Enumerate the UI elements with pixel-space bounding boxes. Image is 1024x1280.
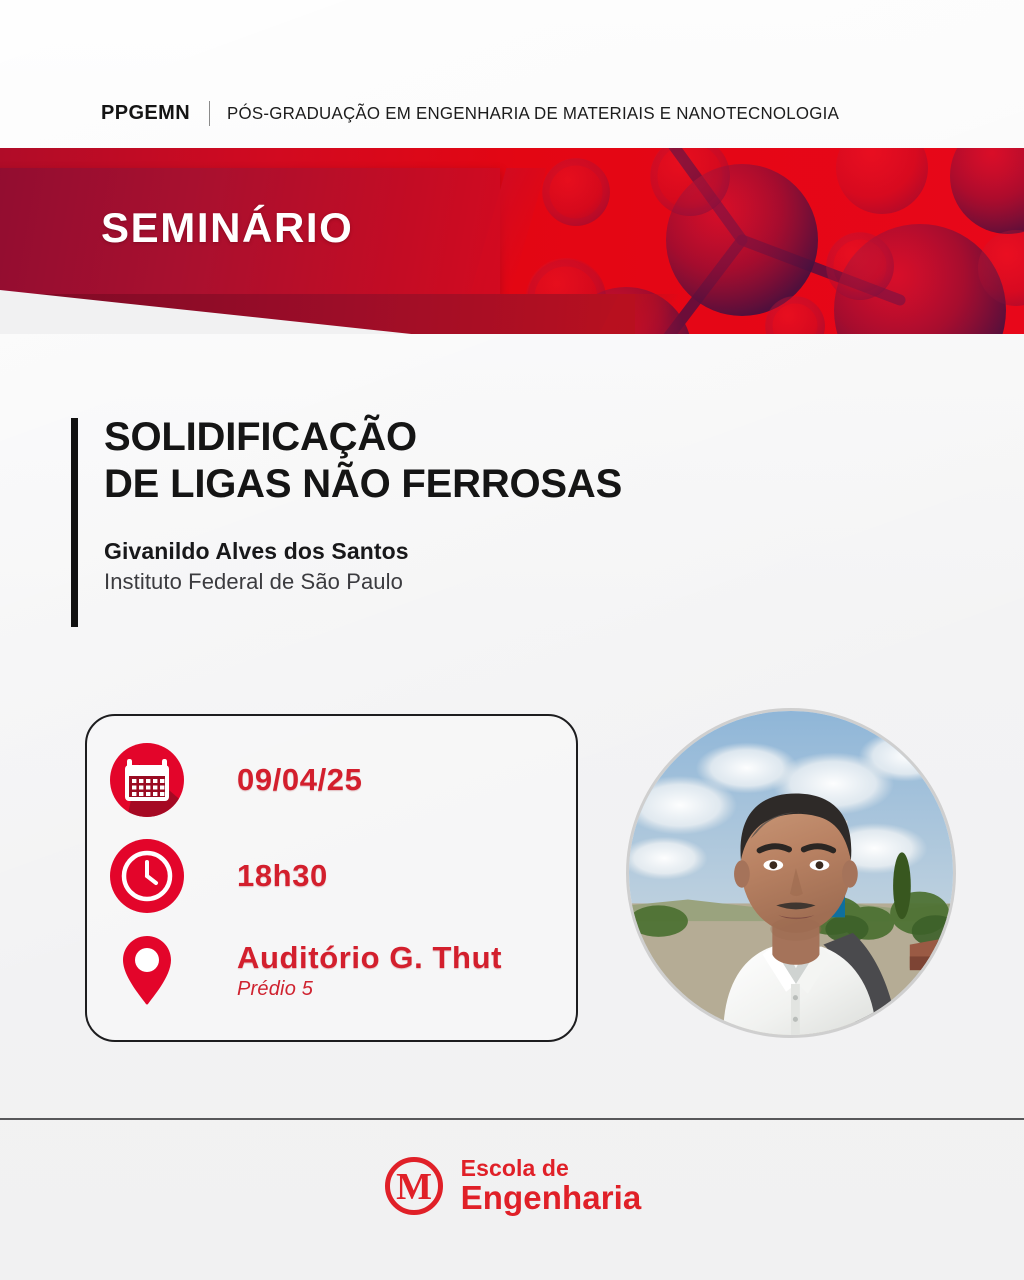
mackenzie-m-logo-icon: M <box>383 1155 445 1217</box>
footer-divider <box>0 1118 1024 1120</box>
event-location-row: Auditório G. Thut Prédio 5 <box>109 932 502 1008</box>
speaker-portrait-photo <box>626 708 956 1038</box>
event-location-building: Prédio 5 <box>237 978 502 1001</box>
footer-logo-line-2: Engenharia <box>461 1181 642 1215</box>
banner-label: SEMINÁRIO <box>101 204 353 252</box>
footer-logo-line-1: Escola de <box>461 1157 642 1180</box>
svg-text:M: M <box>396 1166 432 1208</box>
event-details-card: 09/04/25 18h30 <box>85 714 578 1042</box>
seminar-banner: SEMINÁRIO <box>0 148 1024 334</box>
talk-title-block: SOLIDIFICAÇÃO DE LIGAS NÃO FERROSAS Giva… <box>71 414 622 595</box>
seminar-poster: PPGEMN PÓS-GRADUAÇÃO EM ENGENHARIA DE MA… <box>0 0 1024 1280</box>
program-abbreviation: PPGEMN <box>101 102 190 125</box>
event-time-value: 18h30 <box>237 858 328 894</box>
program-full-name: PÓS-GRADUAÇÃO EM ENGENHARIA DE MATERIAIS… <box>227 103 839 124</box>
clock-icon <box>109 838 185 914</box>
event-date-value: 09/04/25 <box>237 762 362 798</box>
event-time-row: 18h30 <box>109 838 328 914</box>
page-title: SOLIDIFICAÇÃO DE LIGAS NÃO FERROSAS <box>104 414 622 508</box>
vertical-divider-icon <box>209 101 210 126</box>
event-location-value: Auditório G. Thut <box>237 940 502 976</box>
speaker-name: Givanildo Alves dos Santos <box>104 538 622 565</box>
footer-logo: M Escola de Engenharia <box>0 1155 1024 1217</box>
program-header: PPGEMN PÓS-GRADUAÇÃO EM ENGENHARIA DE MA… <box>0 0 1024 148</box>
event-date-row: 09/04/25 <box>109 742 362 818</box>
map-pin-icon <box>109 932 185 1008</box>
speaker-affiliation: Instituto Federal de São Paulo <box>104 569 622 595</box>
calendar-icon <box>109 742 185 818</box>
title-accent-bar <box>71 418 78 627</box>
